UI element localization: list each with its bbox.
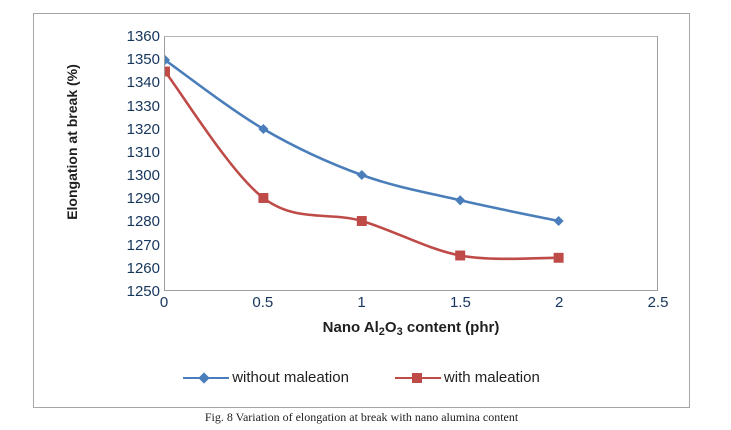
data-point-marker [165,67,170,77]
plot-series-svg [165,37,657,290]
x-axis-title-pre: Nano Al [323,319,379,336]
y-axis-tick-label: 1350 [74,52,160,67]
x-axis-tick-label: 0.5 [233,295,293,310]
data-point-marker [455,195,465,205]
x-axis-title-sub2: 3 [397,326,403,338]
y-axis-tick-label: 1320 [74,122,160,137]
figure-caption: Fig. 8 Variation of elongation at break … [33,410,690,425]
y-axis-tick-label: 1290 [74,191,160,206]
series-line-0 [165,60,559,221]
x-axis-title-sub1: 2 [379,326,385,338]
x-axis-tick-label: 2 [529,295,589,310]
x-axis-tick-label: 1 [332,295,392,310]
legend-entry[interactable]: without maleation [183,369,349,386]
legend-diamond-marker-icon [183,371,229,385]
x-axis-title-mid: O [385,319,397,336]
data-point-marker [357,170,367,180]
x-axis-title-post: content (phr) [403,319,500,336]
legend-label: without maleation [232,369,349,386]
y-axis-tick-label: 1310 [74,145,160,160]
figure-frame: Elongation at break (%) 1250126012701280… [33,13,690,408]
plot-area [164,36,658,291]
data-point-marker [455,251,465,261]
y-axis-tick-label: 1270 [74,238,160,253]
series-line-1 [165,72,559,259]
x-axis-tick-labels: 00.511.522.5 [164,295,658,317]
y-axis-tick-label: 1280 [74,214,160,229]
chart-area: Elongation at break (%) 1250126012701280… [34,14,689,359]
y-axis-tick-label: 1360 [74,29,160,44]
legend-label: with maleation [444,369,540,386]
y-axis-tick-label: 1260 [74,261,160,276]
y-axis-tick-label: 1340 [74,75,160,90]
x-axis-title: Nano Al2O3 content (phr) [164,319,658,336]
x-axis-tick-label: 2.5 [628,295,688,310]
chart-legend: without maleationwith maleation [34,369,689,386]
legend-entry[interactable]: with maleation [395,369,540,386]
data-point-marker [258,193,268,203]
y-axis-tick-labels: 1250126012701280129013001310132013301340… [74,36,160,292]
x-axis-tick-label: 0 [134,295,194,310]
x-axis-tick-label: 1.5 [430,295,490,310]
y-axis-tick-label: 1300 [74,168,160,183]
data-point-marker [554,253,564,263]
y-axis-tick-label: 1330 [74,99,160,114]
data-point-marker [554,216,564,226]
legend-square-marker-icon [395,371,441,385]
data-point-marker [357,216,367,226]
